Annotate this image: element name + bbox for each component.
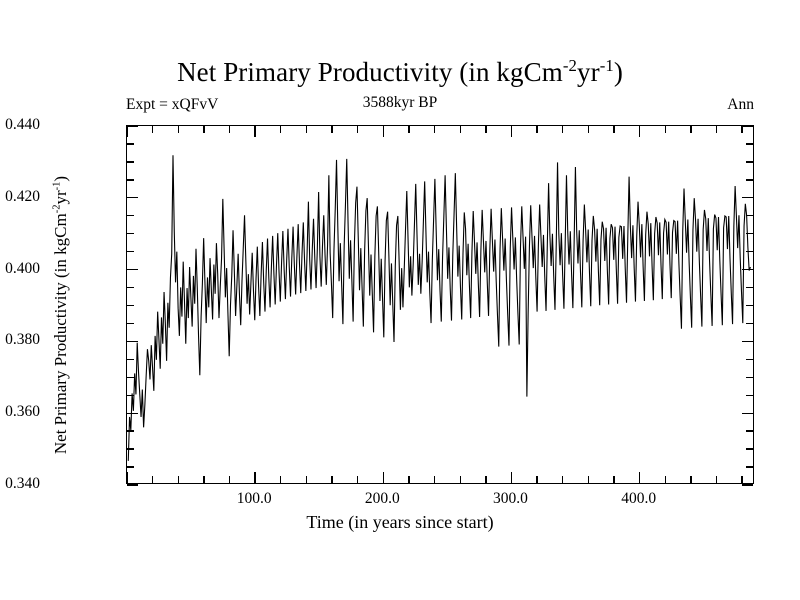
plot-area [126,125,754,484]
y-axis-tick [127,359,134,360]
y-axis-tick [742,413,753,414]
x-axis-tick [690,476,691,483]
y-axis-tick [742,341,753,342]
x-axis-tick [613,126,614,133]
y-axis-tick [127,413,138,414]
x-axis-tick [562,126,563,133]
x-axis-tick [229,476,230,483]
y-axis-tick [746,215,753,216]
y-axis-tick [127,341,138,342]
x-axis-tick [254,472,255,483]
y-axis-tick-label: 0.400 [5,260,40,278]
x-axis-tick [357,476,358,483]
y-axis-tick [127,143,134,144]
x-axis-tick [306,476,307,483]
x-axis-tick [331,476,332,483]
x-axis-tick [383,126,384,137]
x-axis-tick [562,476,563,483]
y-axis-tick [746,323,753,324]
x-axis-tick [536,126,537,133]
x-axis-tick [383,472,384,483]
y-axis-tick [127,323,134,324]
x-axis-tick [254,126,255,137]
x-axis-tick [485,126,486,133]
y-axis-tick [746,430,753,431]
x-axis-tick [536,476,537,483]
x-axis-tick [460,126,461,133]
y-axis-tick [746,305,753,306]
x-axis-tick [741,476,742,483]
x-axis-tick [306,126,307,133]
x-axis-tick [690,126,691,133]
y-axis-tick [127,251,134,252]
y-axis-title-text-end: ) [51,176,70,182]
y-axis-tick [746,233,753,234]
x-axis-tick [357,126,358,133]
y-axis-tick [742,125,753,126]
y-axis-tick [746,179,753,180]
y-axis-tick [742,197,753,198]
x-axis-tick [741,126,742,133]
y-axis-title-text: Net Primary Productivity (in kgCm [51,213,70,454]
y-axis-tick [127,466,134,467]
y-axis-tick [127,287,134,288]
x-axis-tick-label: 200.0 [365,490,400,508]
y-axis-tick [127,430,134,431]
y-axis-tick [127,305,134,306]
data-series-line [127,126,753,483]
x-axis-tick-label: 100.0 [237,490,272,508]
x-axis-tick [178,126,179,133]
x-axis-tick [280,476,281,483]
y-axis-tick [127,161,134,162]
y-axis-tick [127,215,134,216]
x-axis-tick [485,476,486,483]
x-axis-tick [613,476,614,483]
x-axis-tick [716,126,717,133]
y-axis-tick [127,448,134,449]
y-axis-title: Net Primary Productivity (in kgCm-2yr-1) [51,135,71,495]
x-axis-tick [126,472,127,483]
chart-title: Net Primary Productivity (in kgCm-2yr-1) [0,56,800,88]
y-axis-title-exponent-1: -2 [51,205,62,214]
chart-title-text-mid: yr [577,57,600,87]
x-axis-tick [152,126,153,133]
y-axis-tick [127,197,138,198]
x-axis-tick [716,476,717,483]
y-axis-tick-label: 0.360 [5,403,40,421]
x-axis-tick [588,476,589,483]
x-axis-tick [203,126,204,133]
x-axis-tick [280,126,281,133]
frequency-label: Ann [0,96,800,114]
y-axis-tick [127,269,138,270]
x-axis-tick [126,126,127,137]
y-axis-tick-label: 0.340 [5,475,40,493]
x-axis-tick [203,476,204,483]
x-axis-tick [511,126,512,137]
x-axis-tick [331,126,332,133]
x-axis-tick [639,126,640,137]
y-axis-tick-label: 0.440 [5,116,40,134]
x-axis-tick [434,126,435,133]
chart-title-exponent-1: -2 [563,56,577,75]
x-axis-tick [229,126,230,133]
chart-canvas: Net Primary Productivity (in kgCm-2yr-1)… [0,0,800,600]
y-axis-tick-label: 0.420 [5,188,40,206]
chart-title-text: Net Primary Productivity (in kgCm [177,57,563,87]
y-axis-tick [746,377,753,378]
y-axis-tick [746,287,753,288]
x-axis-tick [408,126,409,133]
chart-title-exponent-2: -1 [600,56,614,75]
y-axis-tick [127,395,134,396]
x-axis-tick [665,126,666,133]
y-axis-title-exponent-2: -1 [51,182,62,191]
y-axis-tick-label: 0.380 [5,331,40,349]
y-axis-tick [746,359,753,360]
y-axis-tick [746,448,753,449]
x-axis-tick [408,476,409,483]
y-axis-title-text-mid: yr [51,190,70,204]
x-axis-tick [460,476,461,483]
x-axis-tick [152,476,153,483]
x-axis-tick-label: 400.0 [621,490,656,508]
y-axis-tick [127,233,134,234]
x-axis-tick [639,472,640,483]
y-axis-tick [746,161,753,162]
y-axis-tick [746,143,753,144]
y-axis-tick [746,466,753,467]
y-axis-tick [742,484,753,485]
y-axis-tick [746,251,753,252]
x-axis-tick-label: 300.0 [493,490,528,508]
y-axis-tick [127,484,138,485]
y-axis-tick [127,179,134,180]
x-axis-tick [511,472,512,483]
x-axis-tick [178,476,179,483]
y-axis-tick [746,395,753,396]
x-axis-tick [434,476,435,483]
x-axis-tick [665,476,666,483]
y-axis-tick [127,125,138,126]
x-axis-tick [588,126,589,133]
chart-title-text-end: ) [614,57,623,87]
y-axis-tick [742,269,753,270]
x-axis-title: Time (in years since start) [0,512,800,533]
y-axis-tick [127,377,134,378]
